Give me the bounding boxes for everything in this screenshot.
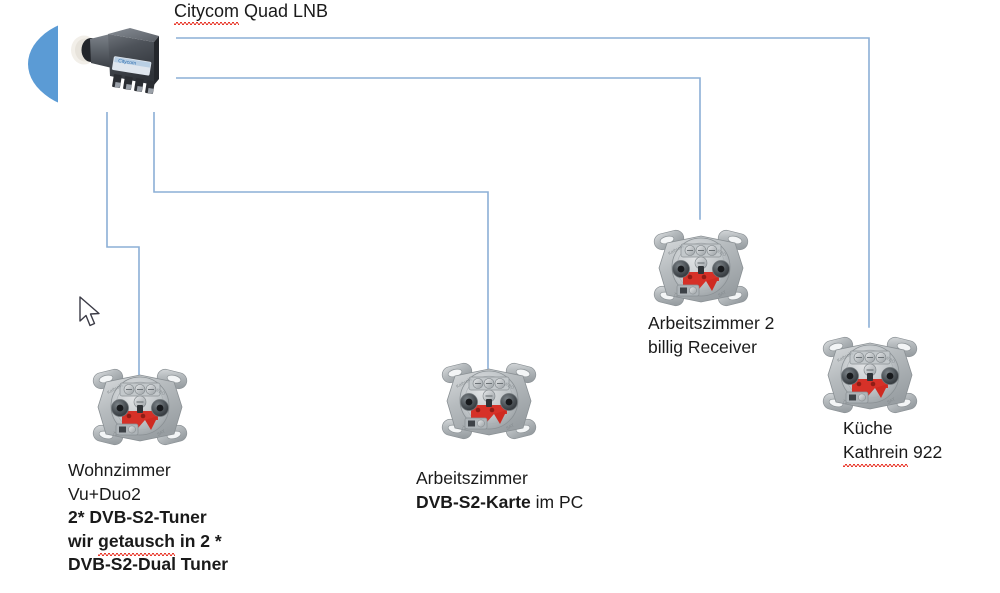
- label-line: billig Receiver: [648, 336, 774, 360]
- outlet-wohnzimmer-label: Wohnzimmer Vu+Duo2 2* DVB-S2-Tuner wir g…: [68, 459, 228, 577]
- lnb-photo: Citycom: [58, 12, 176, 112]
- label-line: Wohnzimmer: [68, 459, 228, 483]
- label-line: Kathrein 922: [843, 441, 942, 465]
- label-line: 2* DVB-S2-Tuner: [68, 506, 228, 530]
- cable-to-arbeitszimmer: [154, 96, 488, 370]
- label-line: Arbeitszimmer: [416, 467, 583, 491]
- diagram-canvas: Citycom Citycom Quad LNB: [0, 0, 1000, 593]
- cable-to-wohnzimmer: [107, 104, 139, 376]
- label-line: Küche: [843, 417, 942, 441]
- label-misspelled-word: Kathrein: [843, 441, 908, 465]
- label-line-suffix: im PC: [531, 492, 584, 512]
- outlet-arbeitszimmer[interactable]: Kathrein EBD TV SAT: [437, 352, 541, 450]
- coax-wall-outlet-icon: Kathrein EBD TV SAT: [818, 326, 922, 424]
- cable-to-kueche: [154, 38, 869, 327]
- label-line: DVB-S2-Dual Tuner: [68, 553, 228, 577]
- diagram-title-word-1: Citycom: [174, 1, 239, 22]
- mouse-pointer-icon: [78, 296, 104, 330]
- outlet-arbeitszimmer-2[interactable]: Kathrein EBD TV SAT: [649, 219, 753, 317]
- cable-to-arbeitszimmer-2: [154, 78, 700, 219]
- diagram-title: Citycom Quad LNB: [174, 1, 328, 22]
- coax-wall-outlet-icon: Kathrein EBD TV SAT: [437, 352, 541, 450]
- outlet-wohnzimmer[interactable]: Kathrein EBD TV SAT: [88, 358, 192, 456]
- outlet-arbeitszimmer-label: Arbeitszimmer DVB-S2-Karte im PC: [416, 467, 583, 514]
- outlet-arbeitszimmer-2-label: Arbeitszimmer 2 billig Receiver: [648, 312, 774, 359]
- coax-wall-outlet-icon: Kathrein EBD TV SAT: [88, 358, 192, 456]
- label-line: DVB-S2-Karte im PC: [416, 491, 583, 515]
- coax-wall-outlet-icon: Kathrein EBD TV SAT: [649, 219, 753, 317]
- label-line-bold: DVB-S2-Karte: [416, 492, 531, 512]
- outlet-kueche[interactable]: Kathrein EBD TV SAT: [818, 326, 922, 424]
- lnb-node[interactable]: Citycom: [28, 16, 176, 112]
- label-line: wir getausch in 2 *: [68, 530, 228, 554]
- label-line: Vu+Duo2: [68, 483, 228, 507]
- label-misspelled-word: getausch: [98, 530, 175, 554]
- outlet-kueche-label: Küche Kathrein 922: [843, 417, 942, 464]
- satellite-lnb-icon: Citycom: [58, 12, 176, 112]
- label-line: Arbeitszimmer 2: [648, 312, 774, 336]
